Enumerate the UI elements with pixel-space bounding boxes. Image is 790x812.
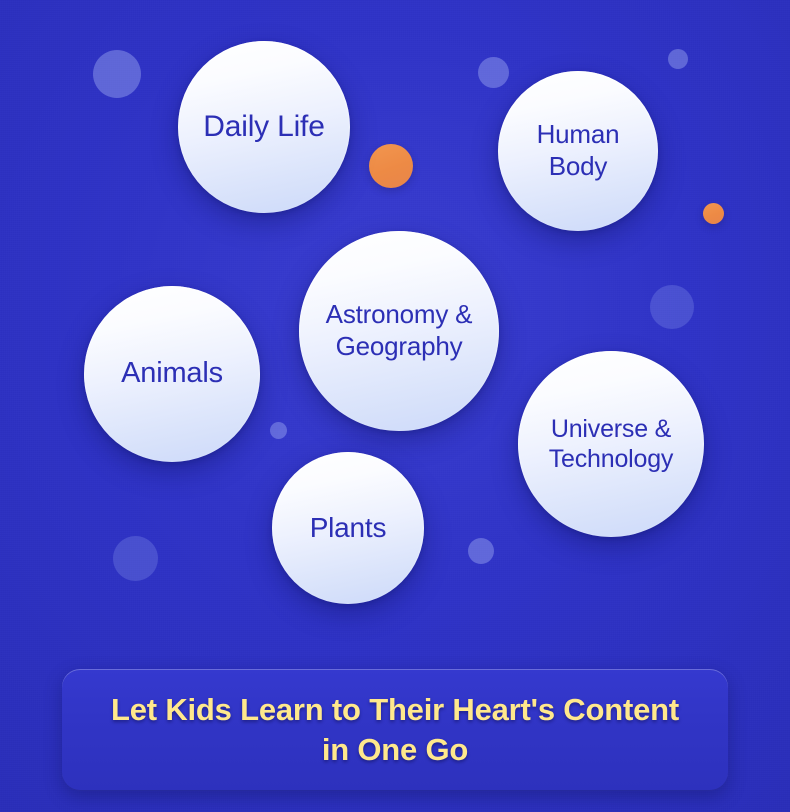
category-bubble-label: Daily Life <box>195 109 332 146</box>
decorative-dot <box>113 536 158 581</box>
promo-canvas: Daily LifeHuman BodyAstronomy & Geograph… <box>0 0 790 812</box>
category-bubble-label: Universe & Technology <box>518 414 704 475</box>
decorative-dot <box>93 50 141 98</box>
accent-dot <box>703 203 724 224</box>
category-bubble-daily-life[interactable]: Daily Life <box>178 41 350 213</box>
decorative-dot <box>270 422 287 439</box>
decorative-dot <box>668 49 688 69</box>
tagline-text: Let Kids Learn to Their Heart's Content … <box>69 690 721 769</box>
decorative-dot <box>650 285 694 329</box>
category-bubble-plants[interactable]: Plants <box>272 452 424 604</box>
category-bubble-label: Astronomy & Geography <box>299 299 499 362</box>
decorative-dot <box>478 57 509 88</box>
category-bubble-label: Plants <box>302 511 395 545</box>
tagline-banner: Let Kids Learn to Their Heart's Content … <box>62 669 728 791</box>
category-bubble-astronomy-geography[interactable]: Astronomy & Geography <box>299 231 499 431</box>
decorative-dot <box>468 538 494 564</box>
category-bubble-label: Animals <box>113 356 231 391</box>
accent-dot <box>369 144 413 188</box>
category-bubble-human-body[interactable]: Human Body <box>498 71 658 231</box>
category-bubble-animals[interactable]: Animals <box>84 286 260 462</box>
category-bubble-label: Human Body <box>498 119 658 182</box>
category-bubble-universe-technology[interactable]: Universe & Technology <box>518 351 704 537</box>
